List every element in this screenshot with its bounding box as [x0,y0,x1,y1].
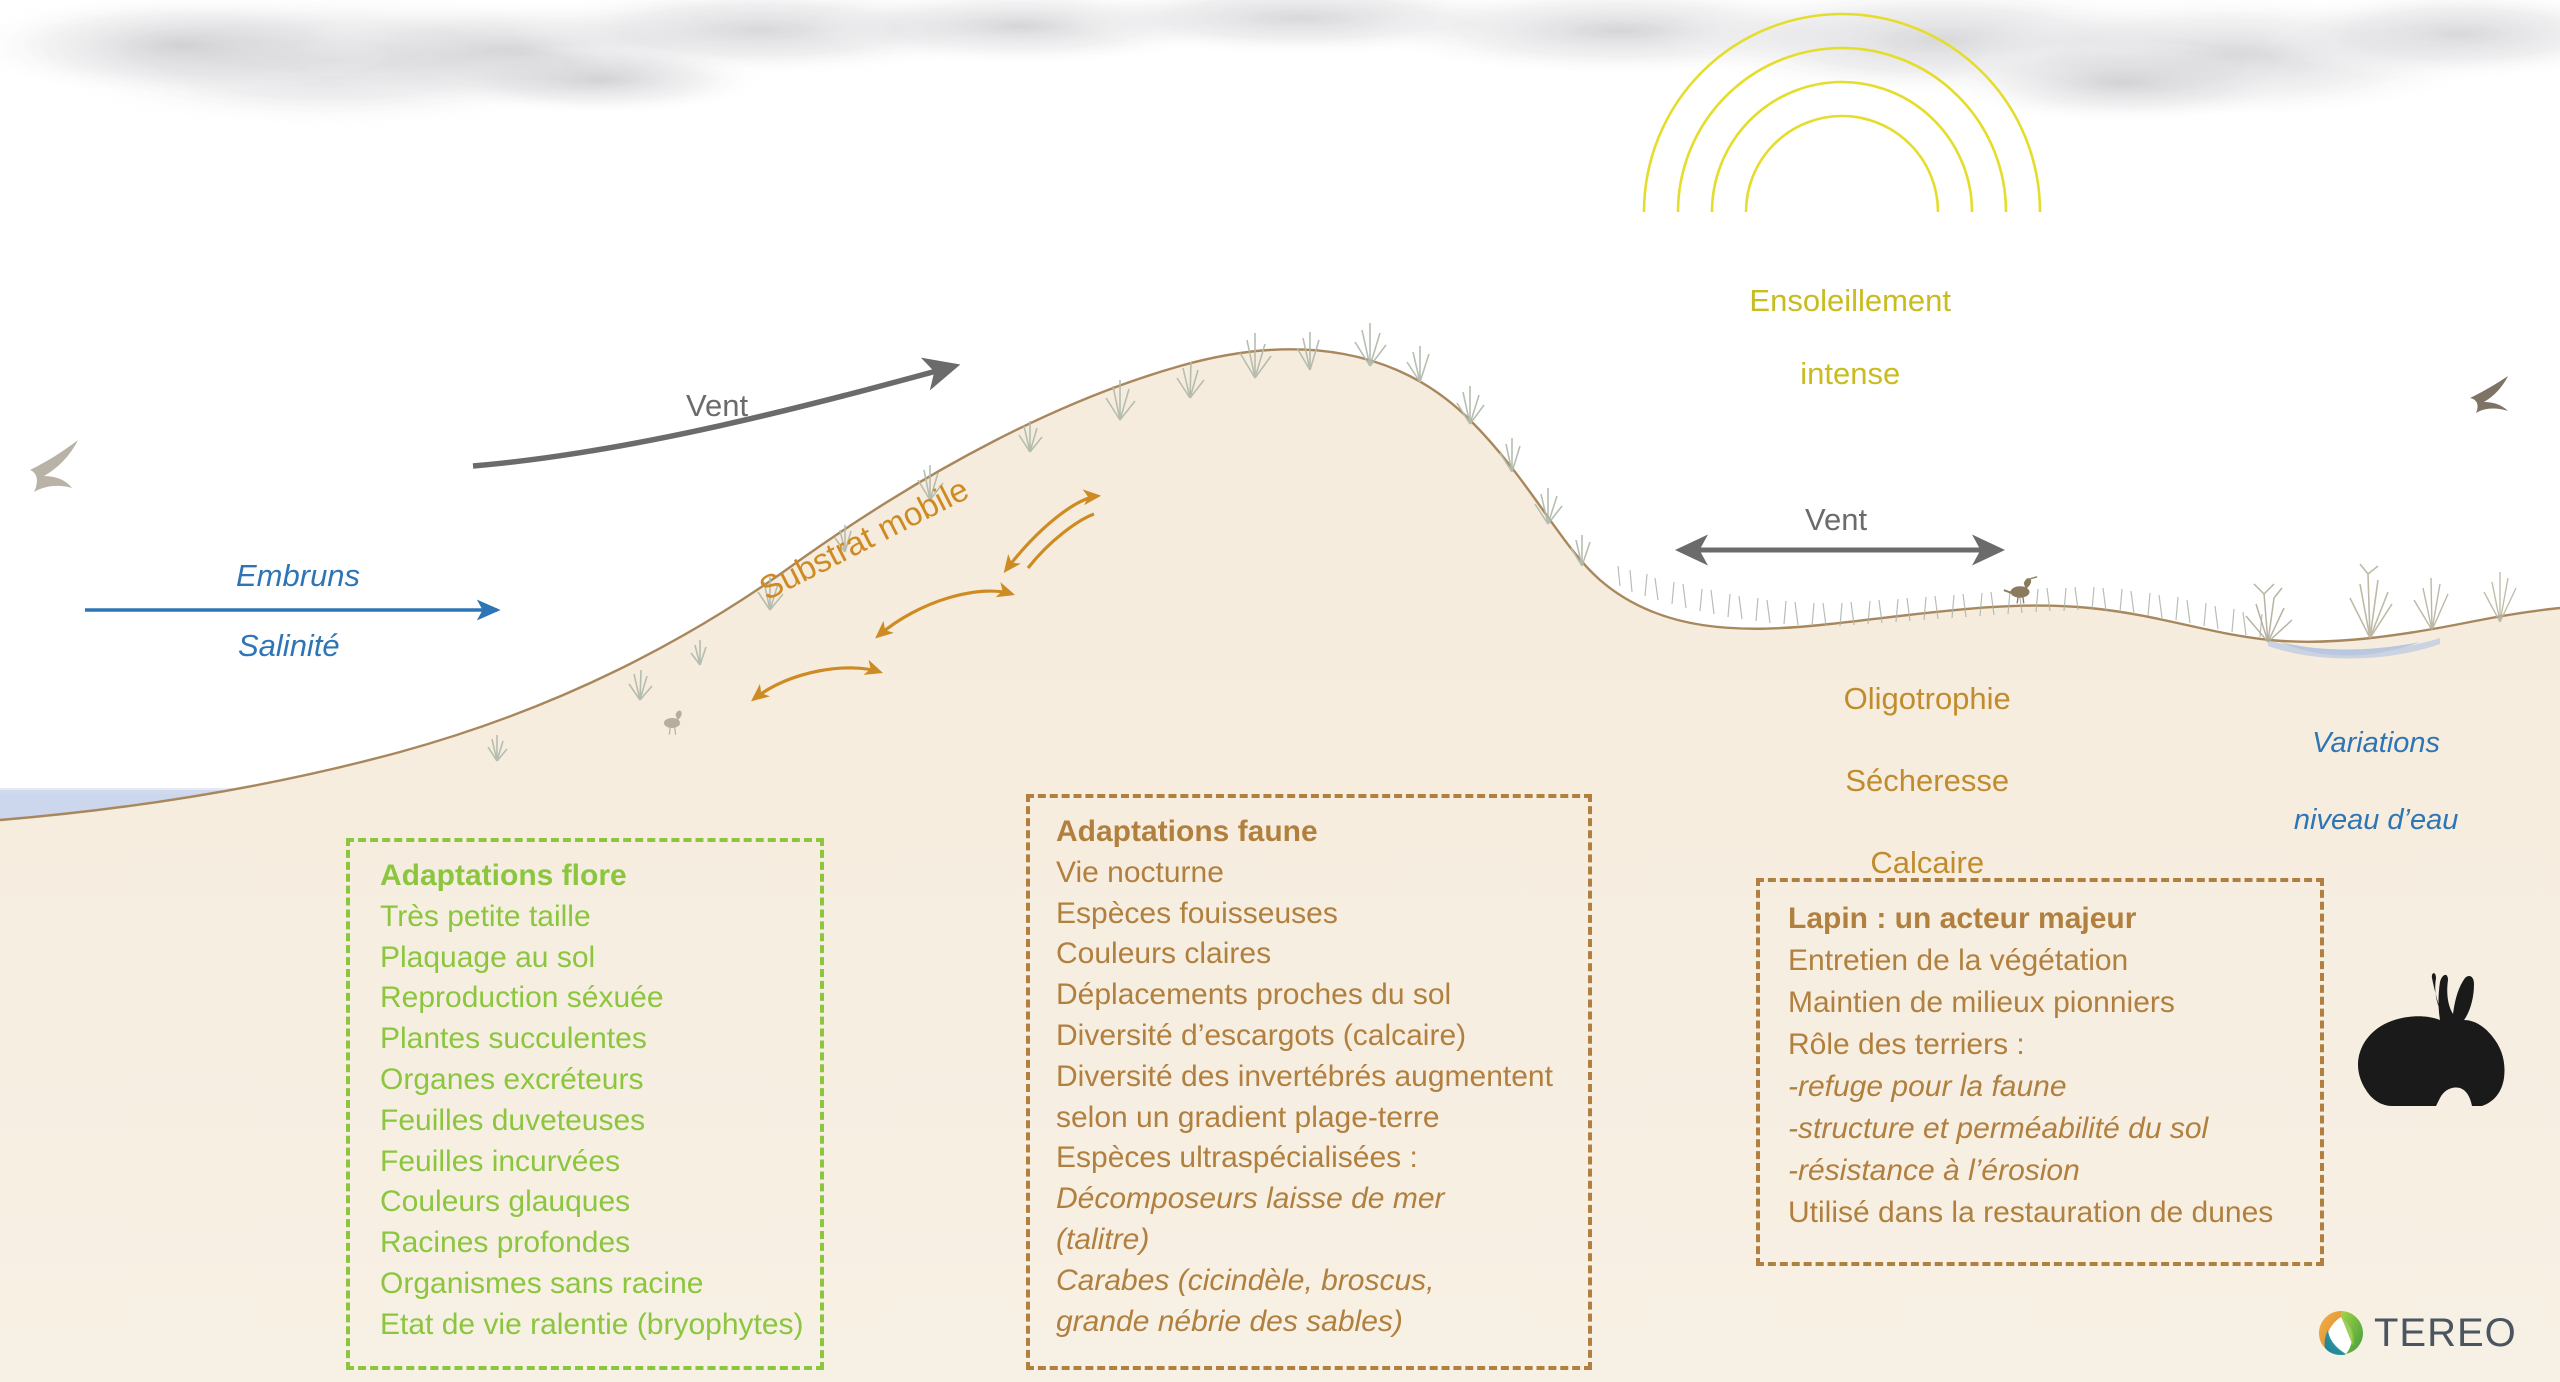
flora-item: Organismes sans racine [380,1264,820,1305]
flora-item: Couleurs glauques [380,1182,820,1223]
infographic-root: Ensoleillement intense Vent Vent Embruns… [0,0,2560,1382]
wind-label-right: Vent [1805,502,1867,539]
flora-item: Feuilles incurvées [380,1142,820,1183]
soil-line-3: Calcaire [1870,845,1984,880]
soil-line-1: Oligotrophie [1844,681,2011,716]
flora-item: Reproduction séxuée [380,978,820,1019]
sea-spray-label: Embruns [236,558,360,595]
fauna-item: Espèces fouisseuses [1056,894,1588,935]
fauna-item: Diversité des invertébrés augmentent [1056,1057,1588,1098]
flora-box-title: Adaptations flore [380,856,820,897]
flora-item: Etat de vie ralentie (bryophytes) [380,1305,820,1346]
wind-label-top: Vent [686,388,748,425]
rabbit-role-box: Lapin : un acteur majeur Entretien de la… [1756,878,2324,1266]
rabbit-item: Rôle des terriers : [1788,1024,2320,1066]
fauna-item: Déplacements proches du sol [1056,975,1588,1016]
rabbit-item: Maintien de milieux pionniers [1788,982,2320,1024]
rabbit-item: Entretien de la végétation [1788,940,2320,982]
tereo-logo: TEREO [2318,1310,2517,1356]
rabbit-silhouette-icon [2352,968,2542,1108]
soil-line-2: Sécheresse [1845,763,2009,798]
fauna-item: selon un gradient plage-terre [1056,1098,1588,1139]
fauna-item: Vie nocturne [1056,853,1588,894]
flora-adaptations-box: Adaptations flore Très petite taille Pla… [346,838,824,1370]
fauna-item: Décomposeurs laisse de mer [1056,1179,1588,1220]
ensoleillement-label: Ensoleillement intense [1633,246,2033,429]
water-level-line-2: niveau d’eau [2294,804,2458,836]
rabbit-item: -refuge pour la faune [1788,1066,2320,1108]
fauna-item: grande nébrie des sables) [1056,1302,1588,1343]
flora-item: Très petite taille [380,897,820,938]
rabbit-box-title: Lapin : un acteur majeur [1788,898,2320,940]
flora-item: Racines profondes [380,1223,820,1264]
flora-item: Plaquage au sol [380,938,820,979]
flora-item: Feuilles duveteuses [380,1101,820,1142]
rabbit-item: -structure et perméabilité du sol [1788,1108,2320,1150]
salinity-label: Salinité [238,628,340,665]
fauna-box-title: Adaptations faune [1056,812,1588,853]
water-level-line-1: Variations [2312,727,2440,759]
tereo-leaf-icon [2318,1310,2364,1356]
rabbit-item: Utilisé dans la restauration de dunes [1788,1192,2320,1234]
fauna-item: Carabes (cicindèle, broscus, [1056,1261,1588,1302]
water-level-label: Variations niveau d’eau [2200,686,2520,877]
ensoleillement-line-2: intense [1800,356,1900,391]
ensoleillement-line-1: Ensoleillement [1749,283,1951,318]
fauna-adaptations-box: Adaptations faune Vie nocturne Espèces f… [1026,794,1592,1370]
flora-item: Organes excréteurs [380,1060,820,1101]
fauna-item: Diversité d’escargots (calcaire) [1056,1016,1588,1057]
tereo-wordmark: TEREO [2374,1311,2517,1356]
fauna-item: Espèces ultraspécialisées : [1056,1138,1588,1179]
fauna-item: (talitre) [1056,1220,1588,1261]
fauna-item: Couleurs claires [1056,934,1588,975]
flora-item: Plantes succulentes [380,1019,820,1060]
rabbit-item: -résistance à l’érosion [1788,1150,2320,1192]
